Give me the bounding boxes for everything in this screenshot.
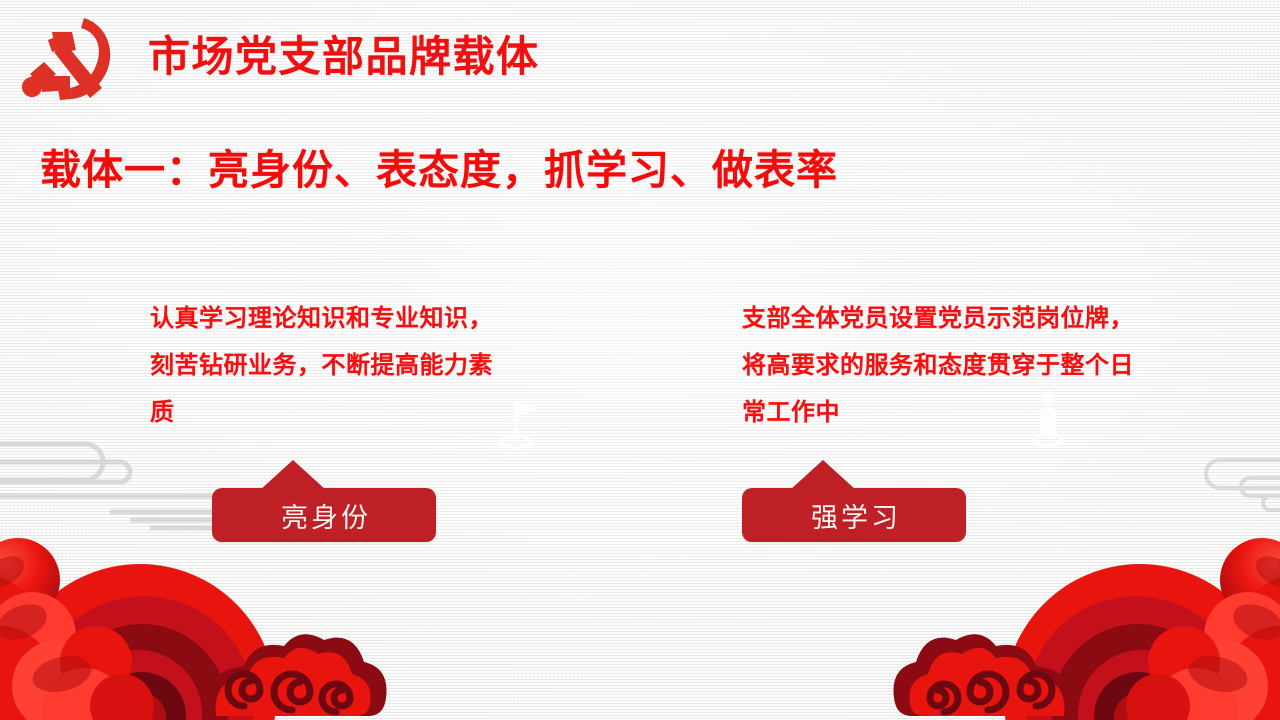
column-2-body-text: 支部全体党员设置党员示范岗位牌，将高要求的服务和态度贯穿于整个日常工作中	[742, 296, 1152, 436]
party-hammer-sickle-emblem-icon	[14, 14, 120, 110]
content-column-2: 支部全体党员设置党员示范岗位牌，将高要求的服务和态度贯穿于整个日常工作中 强学习	[742, 296, 1152, 436]
column-1-body-text: 认真学习理论知识和专业知识，刻苦钻研业务，不断提高能力素质	[150, 296, 510, 436]
slide-header: 市场党支部品牌载体	[0, 0, 1280, 120]
content-columns: 认真学习理论知识和专业知识，刻苦钻研业务，不断提高能力素质 亮身份 支部全体党员…	[0, 296, 1280, 596]
badge-liangshenfen-label: 亮身份	[212, 488, 436, 542]
section-subtitle: 载体一：亮身份、表态度，抓学习、做表率	[40, 148, 838, 193]
content-column-1: 认真学习理论知识和专业知识，刻苦钻研业务，不断提高能力素质 亮身份	[150, 296, 510, 436]
column-2-badge-wrap: 强学习	[742, 488, 966, 542]
badge-qiangxuexi[interactable]: 强学习	[742, 488, 966, 542]
badge-liangshenfen[interactable]: 亮身份	[212, 488, 436, 542]
badge-qiangxuexi-label: 强学习	[742, 488, 966, 542]
column-1-badge-wrap: 亮身份	[212, 488, 436, 542]
page-title: 市场党支部品牌载体	[148, 36, 540, 78]
slide-canvas: 市场党支部品牌载体 载体一：亮身份、表态度，抓学习、做表率 认真学习理论知识和专…	[0, 0, 1280, 720]
